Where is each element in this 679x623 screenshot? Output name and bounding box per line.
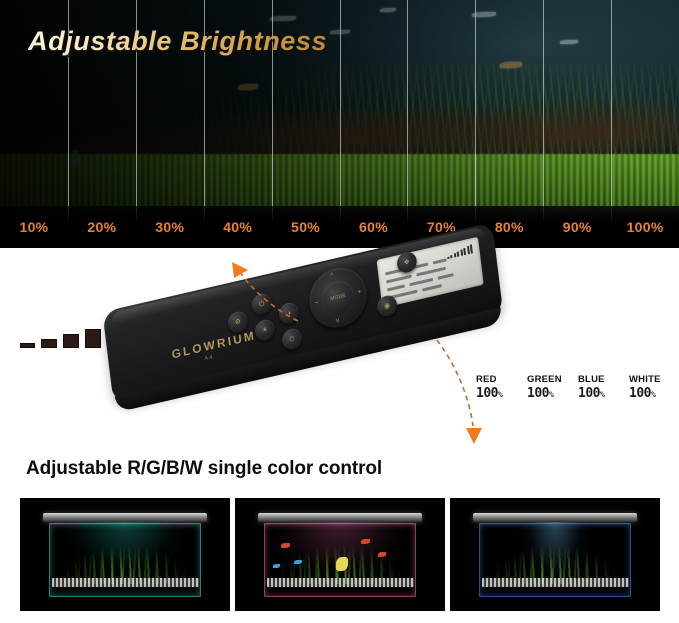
remote-section: GLOWRIUM A4 <box>0 248 679 498</box>
rgbw-readout: RED 100% GREEN 100% BLUE 100% WHITE 100% <box>476 374 666 401</box>
lcd-bar-indicator <box>446 244 473 259</box>
brightness-bar <box>41 339 57 348</box>
brightness-level-10: 10% <box>0 206 68 248</box>
brightness-level-30: 30% <box>136 206 204 248</box>
rgbw-label-red: RED <box>476 374 513 385</box>
brightness-level-20: 20% <box>68 206 136 248</box>
tank-gallery <box>20 498 660 611</box>
fish-icon <box>336 557 348 571</box>
rgbw-value-blue: 100% <box>578 386 615 401</box>
tank-gravel <box>482 578 629 587</box>
tank-cyan <box>20 498 230 611</box>
brightness-level-100: 100% <box>611 206 679 248</box>
rgbw-label-green: GREEN <box>527 374 564 385</box>
dpad-plus-icon[interactable]: + <box>357 288 362 296</box>
tank-gravel <box>267 578 414 587</box>
tank-plants <box>58 534 192 584</box>
rgbw-value-red: 100% <box>476 386 513 401</box>
brightness-bar <box>63 334 79 348</box>
dpad-center-button[interactable]: MODE <box>320 278 356 318</box>
led-light-bar <box>473 513 637 522</box>
tank-plants <box>488 534 622 584</box>
brightness-level-90: 90% <box>543 206 611 248</box>
rgbw-channel-green: GREEN 100% <box>527 374 564 401</box>
led-light-bar <box>43 513 207 522</box>
brightness-level-40: 40% <box>204 206 272 248</box>
dpad-minus-icon[interactable]: − <box>314 299 319 307</box>
dpad-down-icon[interactable]: v <box>336 317 340 325</box>
tank-pink <box>235 498 445 611</box>
rgbw-value-white: 100% <box>629 386 666 401</box>
fish-icon <box>273 564 280 568</box>
rgbw-channel-white: WHITE 100% <box>629 374 666 401</box>
led-light-bar <box>258 513 422 522</box>
rgbw-label-blue: BLUE <box>578 374 615 385</box>
brightness-bar <box>85 329 101 348</box>
section-heading: Adjustable R/G/B/W single color control <box>26 458 382 480</box>
tank-blue <box>450 498 660 611</box>
fish-icon <box>361 539 370 544</box>
banner-title: Adjustable Brightness <box>28 26 327 57</box>
rgbw-value-green: 100% <box>527 386 564 401</box>
dpad-up-icon[interactable]: ^ <box>330 272 334 280</box>
brightness-level-60: 60% <box>340 206 408 248</box>
arrow-head-up-icon <box>232 262 248 278</box>
rgbw-label-white: WHITE <box>629 374 666 385</box>
tank-gravel <box>52 578 199 587</box>
brightness-bar <box>20 343 35 348</box>
dpad-center-label: MODE <box>330 293 346 303</box>
rgbw-channel-blue: BLUE 100% <box>578 374 615 401</box>
brightness-level-50: 50% <box>272 206 340 248</box>
brightness-level-labels: 10% 20% 30% 40% 50% 60% 70% 80% 90% 100% <box>0 206 679 248</box>
rgbw-channel-red: RED 100% <box>476 374 513 401</box>
brightness-banner: Adjustable Brightness 10% 20% 30% 40% 50… <box>0 0 679 248</box>
